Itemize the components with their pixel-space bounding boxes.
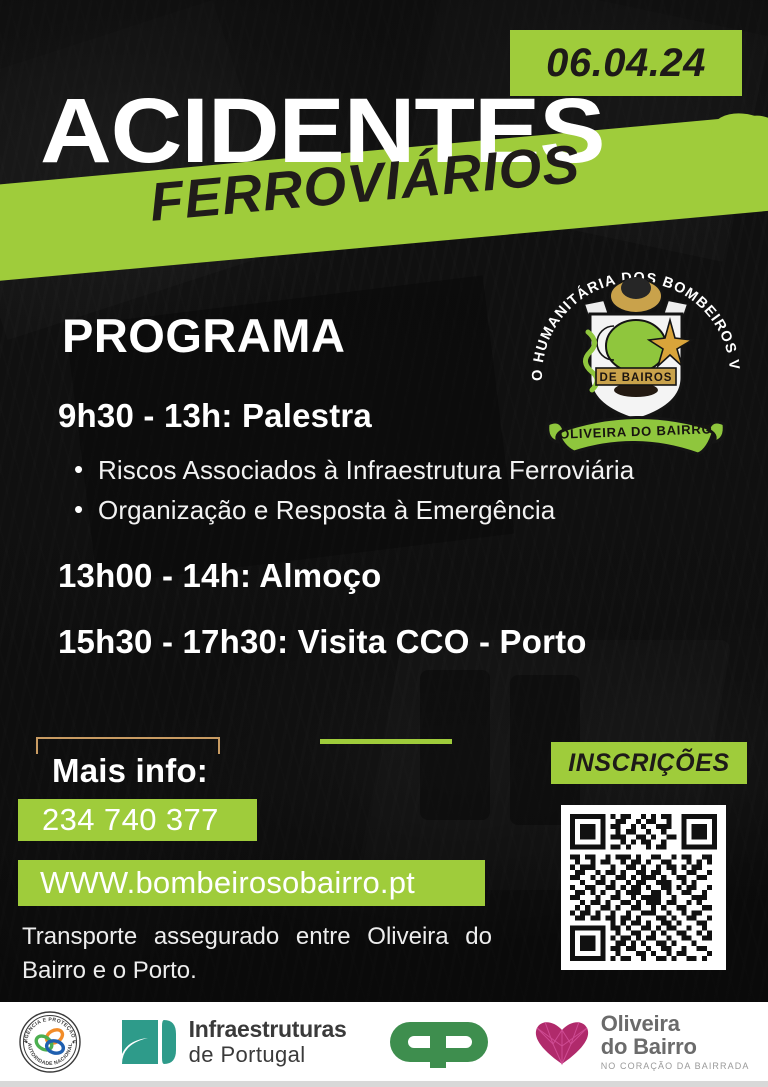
phone-number[interactable]: 234 740 377 bbox=[18, 799, 257, 841]
oliveira-line2: do Bairro bbox=[601, 1036, 750, 1058]
list-item: Organização e Resposta à Emergência bbox=[72, 490, 720, 530]
logo-cp bbox=[384, 1014, 494, 1070]
svg-text:DE BAIROS: DE BAIROS bbox=[600, 372, 673, 384]
logo-oliveira-do-bairro: Oliveira do Bairro NO CORAÇÃO DA BAIRRAD… bbox=[531, 1013, 750, 1071]
poster-root: 06.04.24 ACIDENTES FERROVIÁRIOS ASSOCIAÇ… bbox=[0, 0, 768, 1087]
footer-bottom-strip bbox=[0, 1081, 768, 1087]
list-item: Riscos Associados à Infraestrutura Ferro… bbox=[72, 450, 720, 490]
mais-info-label: Mais info: bbox=[52, 752, 208, 790]
inscricoes-badge: INSCRIÇÕES bbox=[551, 742, 747, 784]
infraestruturas-mark-icon bbox=[118, 1014, 180, 1070]
infraestruturas-line1: Infraestruturas bbox=[189, 1018, 347, 1041]
schedule-item-palestra: 9h30 - 13h: Palestra bbox=[0, 396, 720, 436]
oliveira-line1: Oliveira bbox=[601, 1013, 750, 1035]
heart-icon bbox=[531, 1016, 593, 1068]
website-url[interactable]: WWW.bombeirosobairro.pt bbox=[18, 860, 485, 906]
cp-comboios-icon bbox=[384, 1014, 494, 1070]
footer-sponsor-bar: EMERGÊNCIA E PROTEÇÃO CIVIL AUTORIDADE N… bbox=[0, 1002, 768, 1081]
schedule-list: 9h30 - 13h: Palestra Riscos Associados à… bbox=[0, 396, 720, 672]
palestra-topics: Riscos Associados à Infraestrutura Ferro… bbox=[0, 450, 720, 530]
oliveira-tagline: NO CORAÇÃO DA BAIRRADA bbox=[601, 1062, 750, 1071]
registration-qr-code[interactable] bbox=[561, 805, 726, 970]
section-title-programa: PROGRAMA bbox=[62, 308, 345, 363]
anepc-seal-icon: EMERGÊNCIA E PROTEÇÃO CIVIL AUTORIDADE N… bbox=[19, 1011, 81, 1073]
logo-infraestruturas-de-portugal: Infraestruturas de Portugal bbox=[118, 1014, 347, 1070]
logo-anepc: EMERGÊNCIA E PROTEÇÃO CIVIL AUTORIDADE N… bbox=[19, 1011, 81, 1073]
transport-note: Transporte assegurado entre Oliveira do … bbox=[22, 920, 492, 988]
schedule-item-visita-cco: 15h30 - 17h30: Visita CCO - Porto bbox=[0, 622, 720, 662]
schedule-item-almoco: 13h00 - 14h: Almoço bbox=[0, 556, 720, 596]
infraestruturas-line2: de Portugal bbox=[189, 1044, 347, 1066]
green-divider-line bbox=[320, 739, 452, 744]
title-block: ACIDENTES FERROVIÁRIOS bbox=[0, 88, 768, 268]
